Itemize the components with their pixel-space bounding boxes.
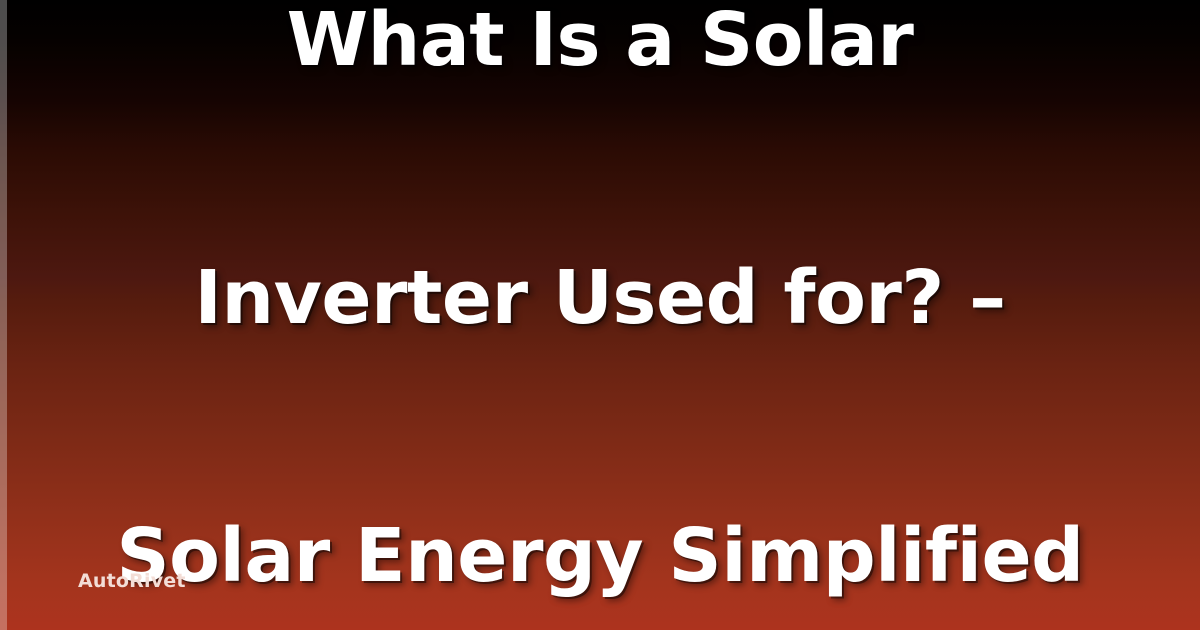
brand-logo[interactable]: AutoRivet (78, 570, 186, 592)
page-title: What Is a Solar Inverter Used for? – Sol… (40, 0, 1160, 630)
headline-line-2: Inverter Used for? – (40, 255, 1160, 341)
headline-line-3: Solar Energy Simplified (40, 513, 1160, 599)
headline-container: What Is a Solar Inverter Used for? – Sol… (0, 0, 1200, 630)
share-card: What Is a Solar Inverter Used for? – Sol… (0, 0, 1200, 630)
headline-line-1: What Is a Solar (40, 0, 1160, 83)
